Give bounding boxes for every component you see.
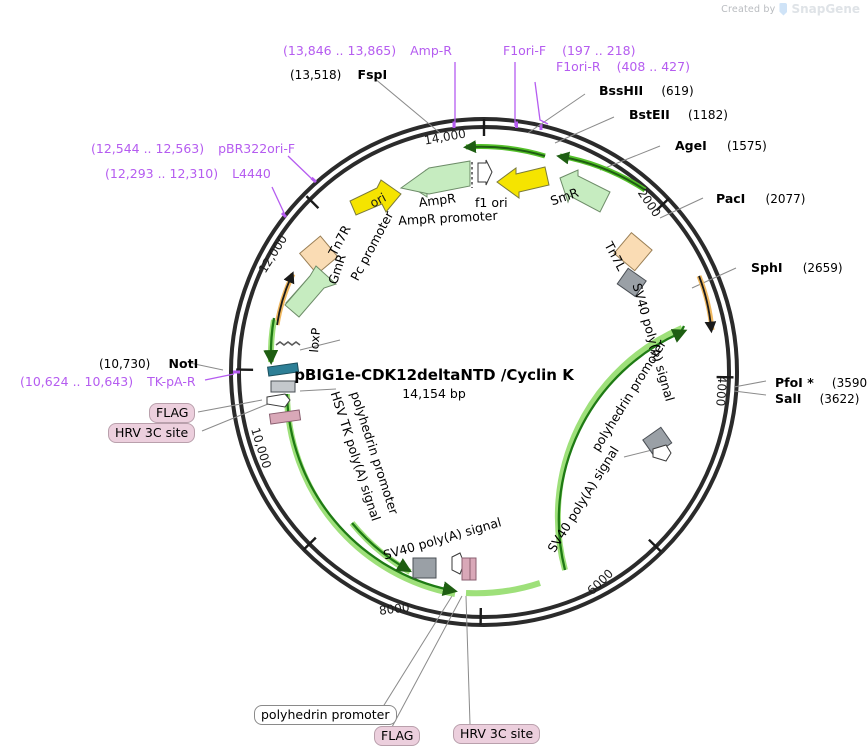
plasmid-size: 14,154 bp [0,386,868,401]
callout-hrv-3c-site-left: HRV 3C site [108,423,195,443]
enzyme-label-agei: AgeI (1575) [675,137,767,153]
enzyme-label-paci: PacI (2077) [716,190,805,206]
primer-label-amp-r: (13,846 .. 13,865) Amp-R [283,45,452,58]
enzyme-label-sphi: SphI (2659) [751,259,843,275]
callout-hrv-3c-site-bottom: HRV 3C site [453,724,540,744]
feature-label-loxp: loxP [308,327,322,353]
feature-f1-ori [478,160,492,185]
gene-direction-arcs-main [271,320,682,594]
enzyme-label-fspi: (13,518) FspI [290,66,387,82]
feature-label-f1-ori: f1 ori [475,197,508,210]
page-title: pBIG1e-CDK12deltaNTD /Cyclin K [0,366,868,384]
callout-flag-bottom: FLAG [374,726,420,746]
feature-yellow-arrow-top [497,167,549,198]
primer-label-pbr322ori-f: (12,544 .. 12,563) pBR322ori-F [91,143,295,156]
primer-label-f1ori-f: F1ori-F (197 .. 218) [503,45,635,58]
tick-label-8000: 8000 [378,601,410,617]
plasmid-map: Created by SnapGene [0,0,868,752]
primer-label-f1ori-r: F1ori-R (408 .. 427) [556,61,690,74]
callout-polyhedrin-promoter-bottom: polyhedrin promoter [254,705,397,725]
enzyme-label-bsshii: BssHII (619) [599,82,694,98]
callout-flag-left: FLAG [149,403,195,423]
primer-label-l4440: (12,293 .. 12,310) L4440 [105,168,271,181]
enzyme-label-bsteii: BstEII (1182) [629,106,728,122]
feature-ampr [401,161,470,197]
